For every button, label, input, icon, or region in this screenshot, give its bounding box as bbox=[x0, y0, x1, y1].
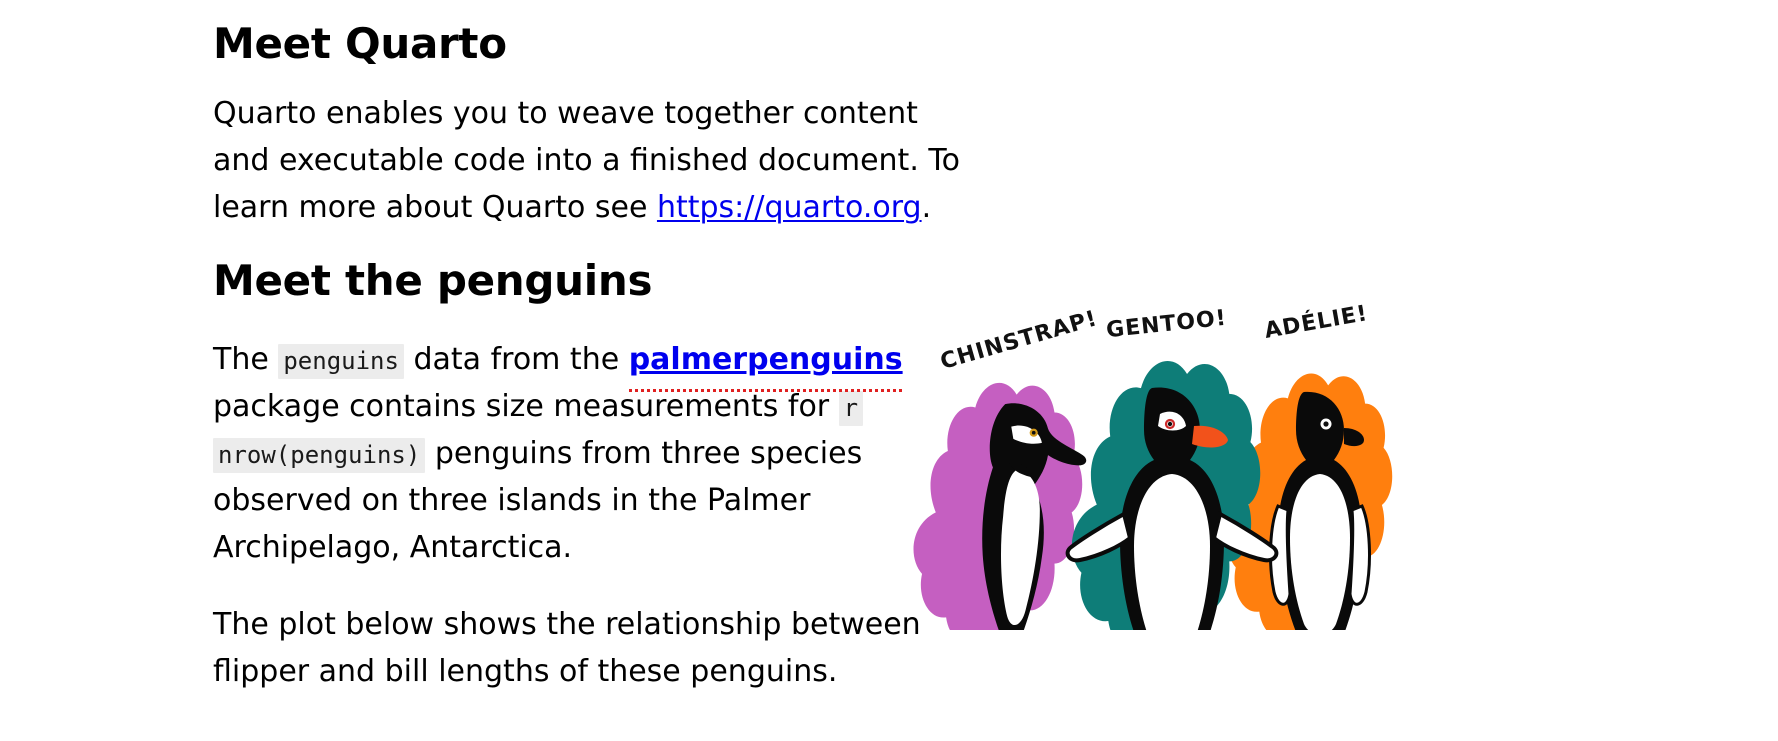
heading-meet-the-penguins: Meet the penguins bbox=[213, 231, 973, 305]
paragraph-quarto-intro-text-after-link: . bbox=[922, 190, 932, 225]
paragraph-penguins-description: The penguins data from the palmerpenguin… bbox=[213, 306, 973, 571]
inline-code-r: r bbox=[839, 391, 863, 426]
inline-code-nrow-penguins: nrow(penguins) bbox=[213, 438, 425, 473]
paragraph-quarto-intro: Quarto enables you to weave together con… bbox=[213, 68, 973, 231]
inline-code-penguins: penguins bbox=[278, 344, 404, 379]
text-the: The bbox=[213, 342, 278, 377]
paragraph-plot-description: The plot below shows the relationship be… bbox=[213, 571, 973, 695]
spellcheck-wrapper-palmerpenguins: palmerpenguins bbox=[629, 336, 903, 383]
text-data-from-the: data from the bbox=[404, 342, 629, 377]
document-page: Meet Quarto Quarto enables you to weave … bbox=[0, 0, 1778, 741]
text-package-contains: package contains size measurements for bbox=[213, 389, 839, 424]
link-quarto-org[interactable]: https://quarto.org bbox=[657, 190, 922, 225]
heading-meet-quarto: Meet Quarto bbox=[213, 0, 973, 68]
document-content-column: Meet Quarto Quarto enables you to weave … bbox=[213, 0, 973, 695]
link-palmerpenguins[interactable]: palmerpenguins bbox=[629, 342, 903, 377]
palmer-penguins-illustration: CHINSTRAP! GENTOO! ADÉLIE! bbox=[900, 300, 1430, 630]
